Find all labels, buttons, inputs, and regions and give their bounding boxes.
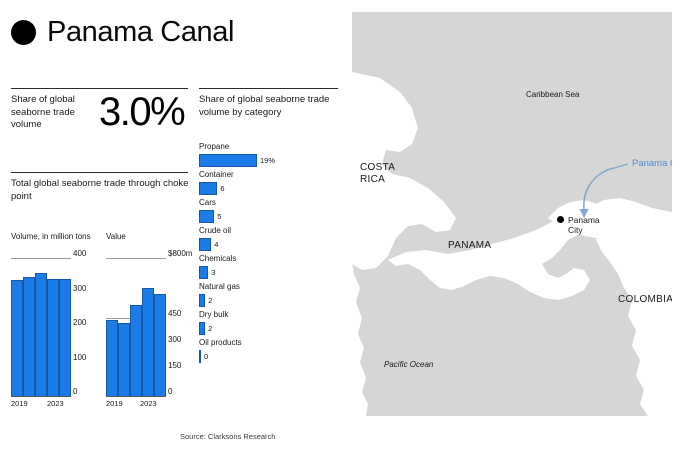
category-item: Natural gas2 <box>199 282 344 307</box>
y-tick-label: 300 <box>168 335 181 344</box>
choke-point-charts: Volume, in million tons 0100200300400 20… <box>11 232 201 422</box>
value-chart-title: Value <box>106 232 188 244</box>
share-stat-label: Share of global seaborne trade volume <box>11 94 103 132</box>
y-tick-label: 300 <box>73 284 86 293</box>
choke-point-heading-block: Total global seaborne trade through chok… <box>11 172 191 203</box>
category-label: Oil products <box>199 338 344 348</box>
gridline <box>11 396 71 397</box>
map-label-caribbean-sea: Caribbean Sea <box>526 90 579 99</box>
source-note: Source: Clarksons Research <box>180 432 275 441</box>
y-tick-label: 400 <box>73 249 86 258</box>
y-tick-label: 200 <box>73 318 86 327</box>
divider <box>11 88 188 89</box>
map-label-panama: PANAMA <box>448 240 491 251</box>
category-label: Propane <box>199 142 344 152</box>
category-bar-row: 3 <box>199 266 344 279</box>
infographic-page: Panama Canal Share of global seaborne tr… <box>0 0 700 459</box>
bar <box>23 277 35 396</box>
share-stat-value: 3.0% <box>99 92 184 132</box>
bar <box>47 279 59 396</box>
y-tick-label: 0 <box>168 387 172 396</box>
divider <box>11 172 188 173</box>
volume-chart: Volume, in million tons 0100200300400 20… <box>11 232 93 413</box>
bar <box>59 279 71 396</box>
category-item: Container6 <box>199 170 344 195</box>
category-value-label: 2 <box>208 296 212 305</box>
category-label: Container <box>199 170 344 180</box>
map-shapes <box>352 12 672 416</box>
category-label: Natural gas <box>199 282 344 292</box>
category-heading-block: Share of global seaborne trade volume by… <box>199 88 339 119</box>
category-bar-row: 6 <box>199 182 344 195</box>
y-tick-label: 100 <box>73 353 86 362</box>
y-tick-label: 0 <box>73 387 77 396</box>
category-bar-row: 2 <box>199 322 344 335</box>
value-x-axis: 20192023 <box>106 399 188 413</box>
share-stat-block: Share of global seaborne trade volume 3.… <box>11 88 191 132</box>
category-label: Cars <box>199 198 344 208</box>
map-label-panama-city: Panama City <box>568 215 608 235</box>
volume-plot: 0100200300400 <box>11 258 93 396</box>
bar <box>154 294 166 396</box>
category-bar <box>199 210 214 223</box>
category-bar-row: 5 <box>199 210 344 223</box>
category-bar <box>199 154 257 167</box>
map-label-colombia: COLOMBIA <box>618 294 672 305</box>
category-bar-row: 19% <box>199 154 344 167</box>
category-value-label: 4 <box>214 240 218 249</box>
bar-group <box>106 258 166 396</box>
x-tick-label: 2019 <box>11 399 28 408</box>
bar <box>130 305 142 396</box>
y-tick-label: 450 <box>168 309 181 318</box>
category-item: Oil products0 <box>199 338 344 363</box>
category-value-label: 5 <box>217 212 221 221</box>
category-bar-row: 2 <box>199 294 344 307</box>
volume-x-axis: 20192023 <box>11 399 93 413</box>
category-label: Chemicals <box>199 254 344 264</box>
bar <box>35 273 47 397</box>
gridline <box>106 396 166 397</box>
value-plot: 0150300450$800m <box>106 258 188 396</box>
category-value-label: 3 <box>211 268 215 277</box>
map-label-pacific-ocean: Pacific Ocean <box>384 360 433 369</box>
bar <box>118 323 130 396</box>
x-tick-label: 2019 <box>106 399 123 408</box>
map-label-panama-canal: Panama Canal <box>632 158 672 169</box>
category-value-label: 2 <box>208 324 212 333</box>
category-value-label: 6 <box>220 184 224 193</box>
value-chart: Value 0150300450$800m 20192023 <box>106 232 188 413</box>
bar-group <box>11 258 71 396</box>
bar <box>106 320 118 396</box>
category-label: Dry bulk <box>199 310 344 320</box>
map-label-costa-rica: COSTA RICA <box>360 162 412 186</box>
category-bar-chart: Propane19%Container6Cars5Crude oil4Chemi… <box>199 142 344 366</box>
canal-leader-line <box>614 164 628 168</box>
panama-map: Caribbean Sea Pacific Ocean COSTA RICA P… <box>352 12 672 416</box>
category-bar <box>199 182 217 195</box>
x-tick-label: 2023 <box>47 399 64 408</box>
y-tick-label: $800m <box>168 249 192 258</box>
map-marker-panama-city <box>557 216 564 223</box>
y-tick-label: 150 <box>168 361 181 370</box>
divider <box>199 88 338 89</box>
left-panel: Share of global seaborne trade volume 3.… <box>0 0 350 459</box>
choke-point-heading-label: Total global seaborne trade through chok… <box>11 178 191 203</box>
category-bar-row: 0 <box>199 350 344 363</box>
bar <box>11 280 23 396</box>
bar <box>142 288 154 396</box>
category-value-label: 0 <box>204 352 208 361</box>
category-item: Chemicals3 <box>199 254 344 279</box>
category-item: Propane19% <box>199 142 344 167</box>
volume-chart-title: Volume, in million tons <box>11 232 93 244</box>
category-item: Dry bulk2 <box>199 310 344 335</box>
x-tick-label: 2023 <box>140 399 157 408</box>
category-heading-label: Share of global seaborne trade volume by… <box>199 94 339 119</box>
category-item: Cars5 <box>199 198 344 223</box>
category-label: Crude oil <box>199 226 344 236</box>
category-bar-row: 4 <box>199 238 344 251</box>
category-item: Crude oil4 <box>199 226 344 251</box>
category-value-label: 19% <box>260 156 275 165</box>
